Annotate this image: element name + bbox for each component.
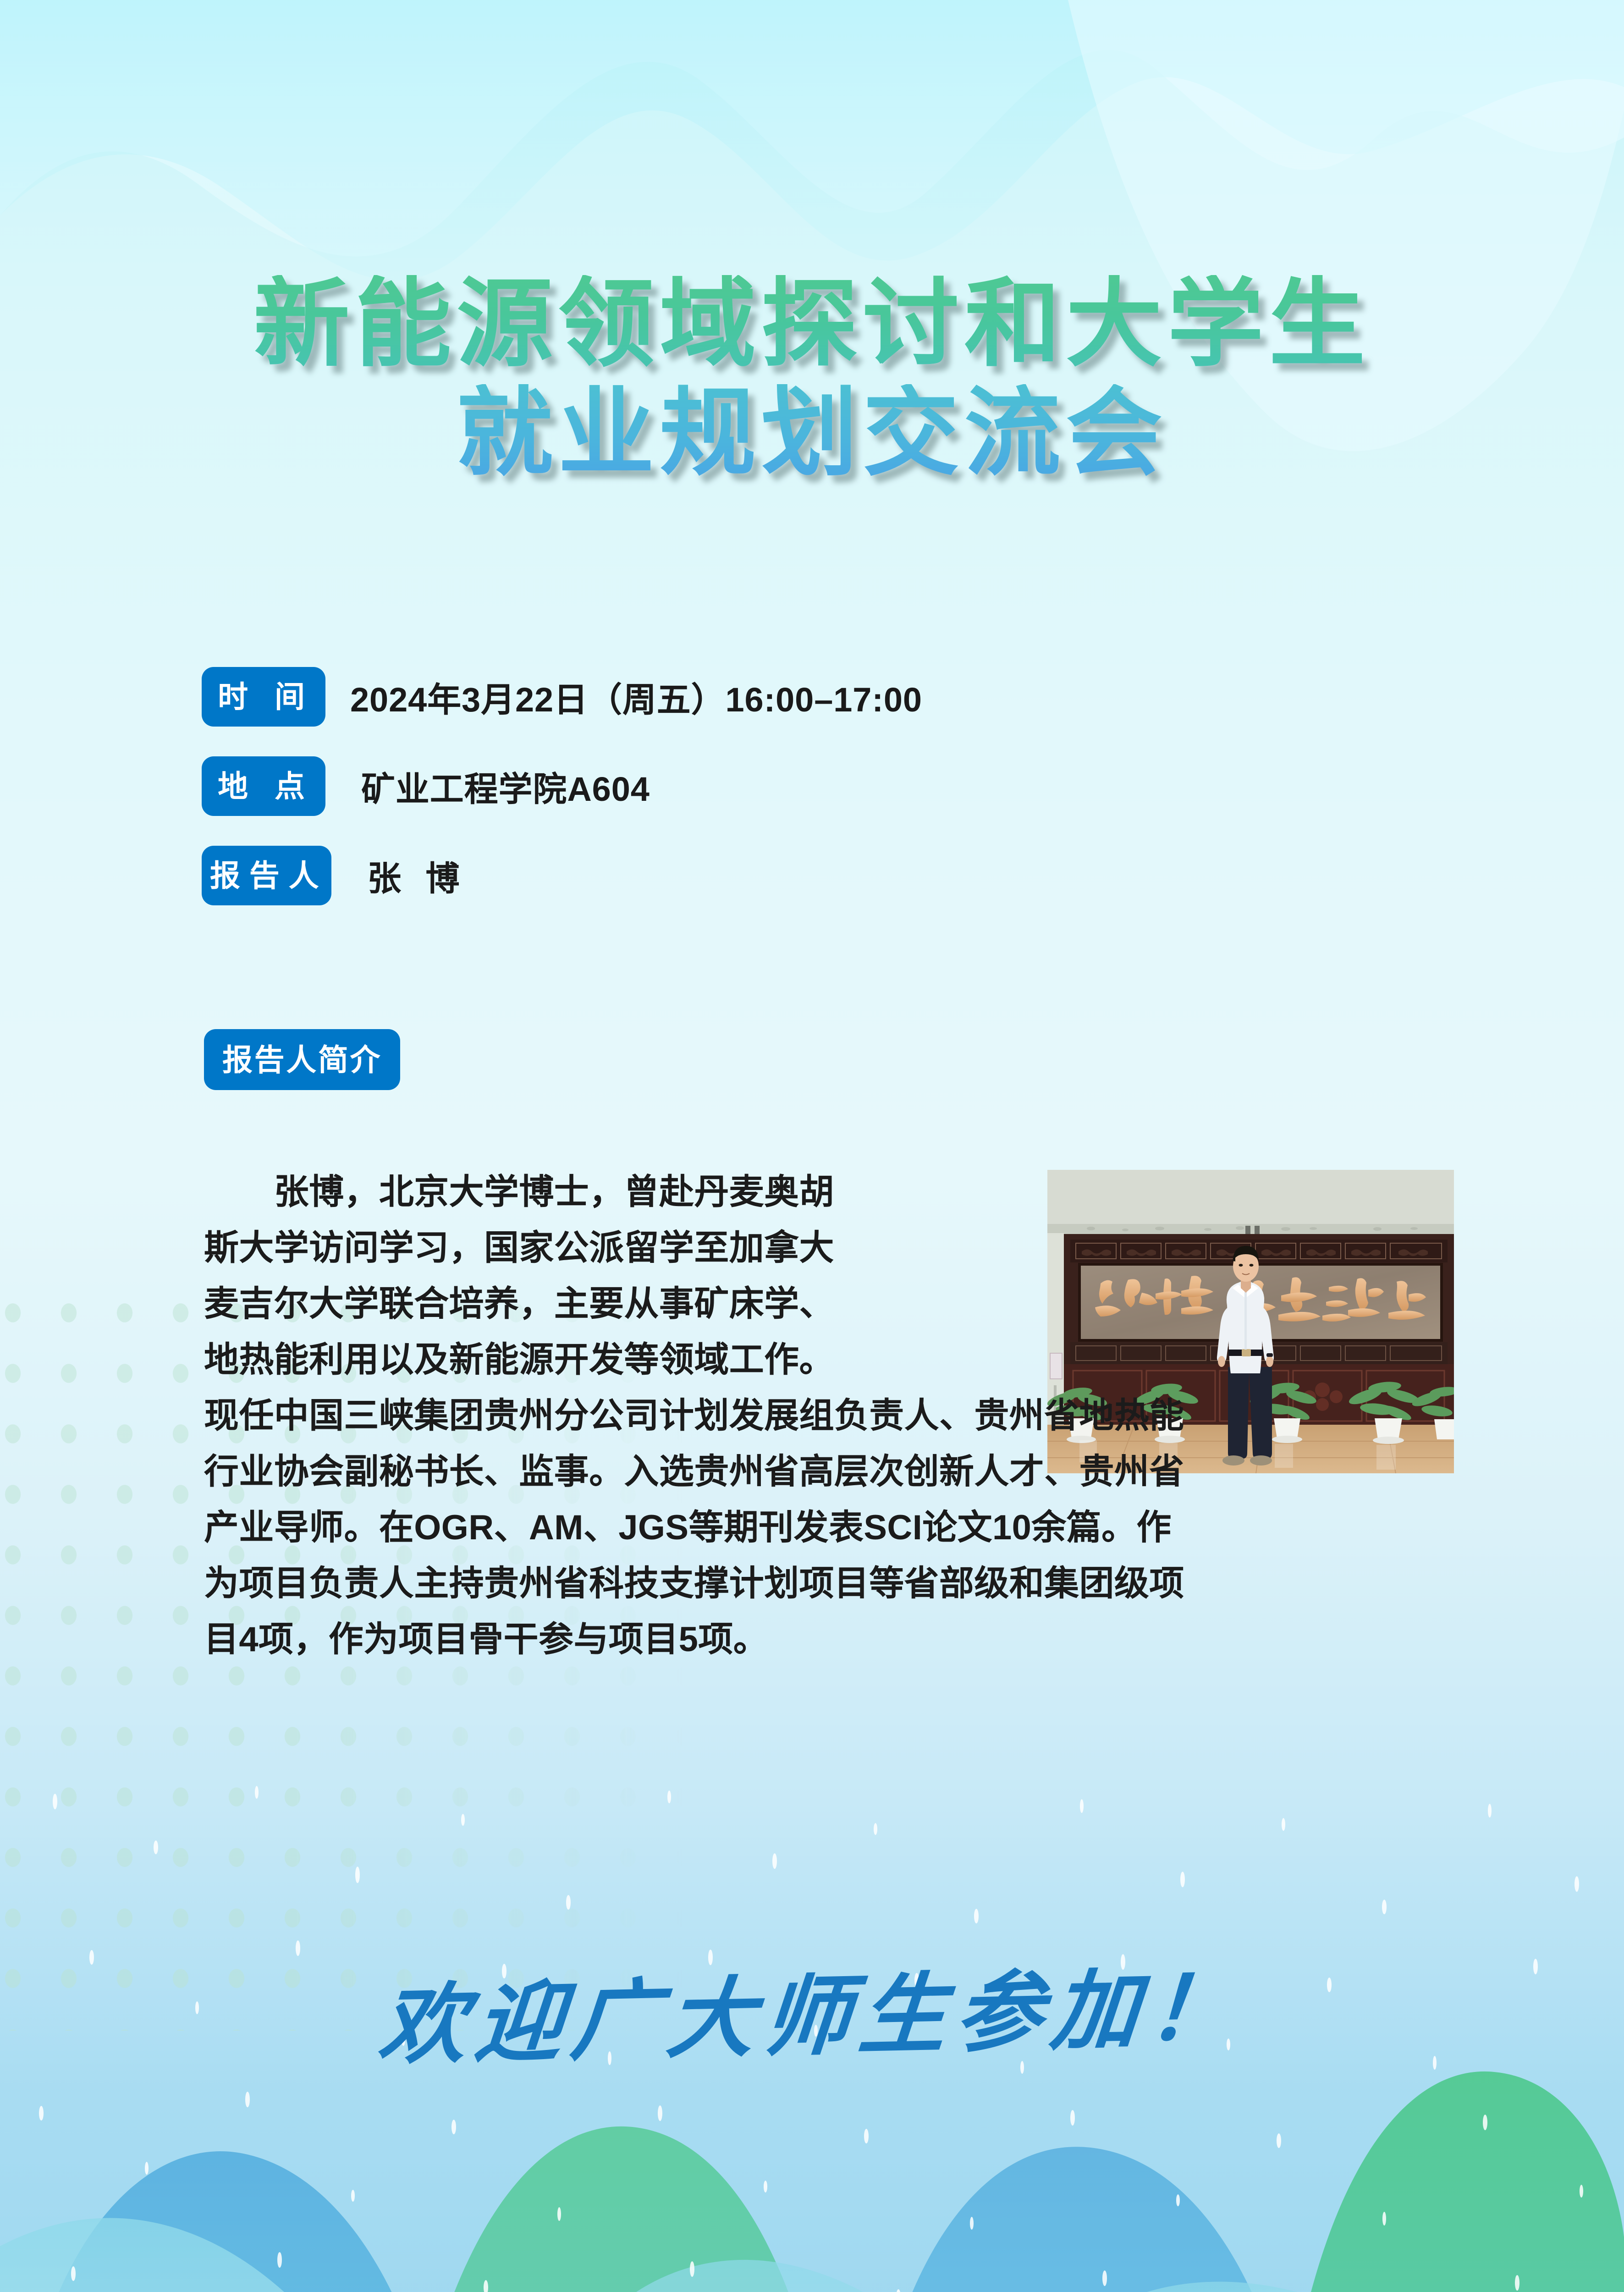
bio-line: 麦吉尔大学联合培养，主要从事矿床学、 <box>204 1276 1047 1332</box>
bio-line: 为项目负责人主持贵州省科技支撑计划项目等省部级和集团级项 <box>204 1556 1423 1612</box>
info-value-time: 2024年3月22日（周五）16:00–17:00 <box>350 672 922 722</box>
info-row-speaker: 报告人 张 博 <box>202 846 1393 905</box>
bio-section-heading: 报告人简介 <box>204 1029 400 1090</box>
bio-line: 张博，北京大学博士，曾赴丹麦奥胡 <box>204 1164 1047 1220</box>
bio-line: 产业导师。在OGR、AM、JGS等期刊发表SCI论文10余篇。作 <box>204 1500 1423 1556</box>
info-row-time: 时 间 2024年3月22日（周五）16:00–17:00 <box>202 667 1393 727</box>
badge-location-label: 地 点 <box>202 756 325 816</box>
bio-line: 地热能利用以及新能源开发等领域工作。 <box>204 1332 1047 1388</box>
poster-title: 新能源领域探讨和大学生 就业规划交流会 <box>0 275 1624 482</box>
bio-line: 目4项，作为项目骨干参与项目5项。 <box>204 1612 1423 1668</box>
title-line-1: 新能源领域探讨和大学生 <box>0 275 1624 373</box>
event-info-list: 时 间 2024年3月22日（周五）16:00–17:00 地 点 矿业工程学院… <box>202 667 1393 935</box>
bio-line: 行业协会副秘书长、监事。入选贵州省高层次创新人才、贵州省 <box>204 1444 1423 1500</box>
badge-time-label: 时 间 <box>202 667 325 727</box>
info-value-speaker: 张 博 <box>367 851 467 900</box>
title-line-2: 就业规划交流会 <box>0 384 1624 482</box>
info-value-location: 矿业工程学院A604 <box>361 762 650 811</box>
poster-canvas: 新能源领域探讨和大学生 就业规划交流会 时 间 2024年3月22日（周五）16… <box>0 0 1624 2292</box>
bio-line: 斯大学访问学习，国家公派留学至加拿大 <box>204 1220 1047 1276</box>
bio-body-text: 张博，北京大学博士，曾赴丹麦奥胡 斯大学访问学习，国家公派留学至加拿大 麦吉尔大… <box>204 1164 1423 1668</box>
info-row-location: 地 点 矿业工程学院A604 <box>202 756 1393 816</box>
badge-speaker-label: 报告人 <box>202 846 331 905</box>
bio-line: 现任中国三峡集团贵州分公司计划发展组负责人、贵州省地热能 <box>204 1388 1423 1444</box>
